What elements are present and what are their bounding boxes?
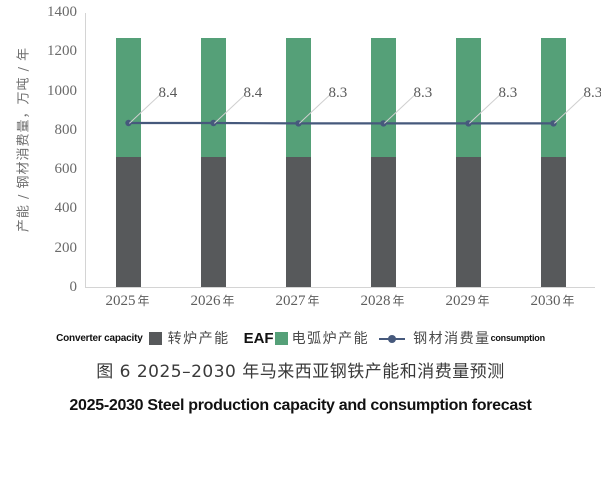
legend-consumption-chinese: 钢材消费量 bbox=[413, 328, 491, 348]
data-label: 8.3 bbox=[584, 85, 601, 102]
x-axis-tick: 2027年 bbox=[253, 292, 343, 310]
y-axis-tick: 1400 bbox=[17, 5, 77, 20]
data-label: 8.3 bbox=[499, 85, 518, 102]
eaf-swatch-icon bbox=[275, 332, 288, 345]
y-axis-tick: 800 bbox=[17, 123, 77, 138]
legend-item-converter: Converter capacity 转炉产能 bbox=[56, 328, 229, 348]
data-label: 8.4 bbox=[244, 85, 263, 102]
line-marker-icon bbox=[379, 332, 405, 345]
data-label: 8.3 bbox=[414, 85, 433, 102]
plot-area: 8.48.48.38.38.38.3 bbox=[85, 13, 595, 288]
figure-container: 产能 / 钢材消费量，万吨 / 年 1400120010008006004002… bbox=[0, 0, 601, 485]
x-axis-tick: 2029年 bbox=[423, 292, 513, 310]
line-series bbox=[86, 13, 596, 288]
legend-consumption-english: consumption bbox=[491, 333, 545, 343]
y-axis-tick: 1000 bbox=[17, 84, 77, 99]
x-axis-tick: 2028年 bbox=[338, 292, 428, 310]
x-axis-tick-group: 2025年2026年2027年2028年2029年2030年 bbox=[85, 292, 595, 316]
data-label: 8.4 bbox=[159, 85, 178, 102]
figure-caption-chinese: 图 6 2025–2030 年马来西亚钢铁产能和消费量预测 bbox=[0, 357, 601, 382]
legend-item-eaf: EAF 电弧炉产能 bbox=[244, 328, 370, 348]
x-axis-tick: 2030年 bbox=[508, 292, 598, 310]
legend-eaf-english: EAF bbox=[244, 330, 274, 347]
data-label: 8.3 bbox=[329, 85, 348, 102]
legend-eaf-chinese: 电弧炉产能 bbox=[292, 328, 370, 348]
legend-converter-english: Converter capacity bbox=[56, 333, 142, 344]
y-axis-tick: 200 bbox=[17, 241, 77, 256]
figure-caption-english: 2025-2030 Steel production capacity and … bbox=[0, 397, 601, 415]
x-axis-tick: 2025年 bbox=[83, 292, 173, 310]
legend-item-consumption: 钢材消费量 consumption bbox=[369, 328, 545, 348]
y-axis-tick: 600 bbox=[17, 162, 77, 177]
chart-legend: Converter capacity 转炉产能 EAF 电弧炉产能 钢材消费量 … bbox=[0, 327, 601, 349]
y-axis-tick: 400 bbox=[17, 201, 77, 216]
legend-converter-chinese: 转炉产能 bbox=[168, 328, 230, 348]
y-axis-tick-group: 1400120010008006004002000 bbox=[0, 0, 85, 301]
x-axis-tick: 2026年 bbox=[168, 292, 258, 310]
y-axis-tick: 0 bbox=[17, 280, 77, 295]
y-axis-tick: 1200 bbox=[17, 44, 77, 59]
converter-swatch-icon bbox=[149, 332, 162, 345]
